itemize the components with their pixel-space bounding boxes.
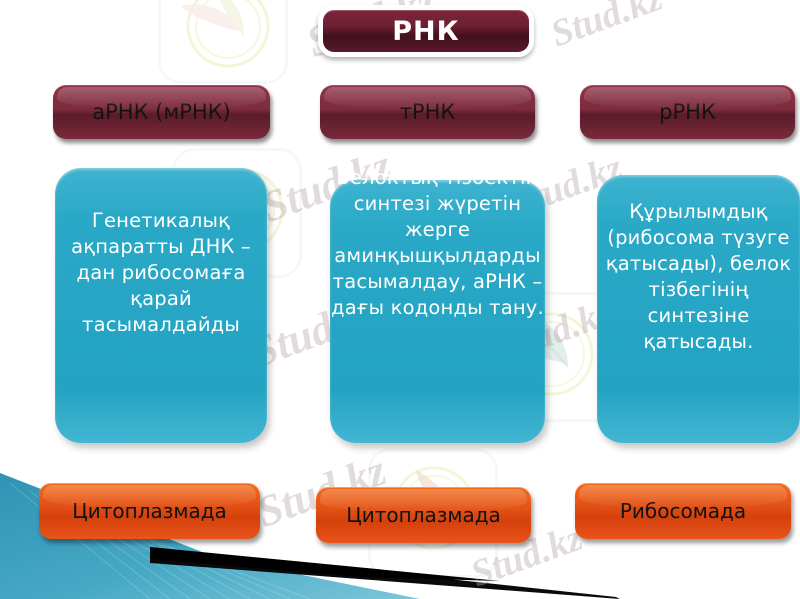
column-header-trnk[interactable]: тРНК <box>320 85 535 139</box>
column-body-trnk: Белоктық тізбектің синтезі жүретін жерге… <box>330 165 545 321</box>
column-header-rrnk[interactable]: рРНК <box>580 85 795 139</box>
column-panel-trnk: Белоктық тізбектің синтезі жүретін жерге… <box>330 180 545 443</box>
slide-title: РНК <box>318 5 534 57</box>
column-body-rrnk: Құрылымдық (рибосома түзуге қатысады), б… <box>597 199 800 355</box>
column-body-arnk: Генетикалық ақпаратты ДНК – дан рибосома… <box>55 208 267 338</box>
stud-kz-bird-logo-top <box>158 0 288 84</box>
watermark-text: Stud.kz <box>545 0 668 56</box>
column-footer-arnk[interactable]: Цитоплазмада <box>39 483 260 539</box>
column-footer-rrnk[interactable]: Рибосомада <box>575 483 791 539</box>
column-panel-rrnk: Құрылымдық (рибосома түзуге қатысады), б… <box>597 175 800 443</box>
bird-logo-glyph <box>158 0 288 84</box>
column-header-arnk[interactable]: аРНК (мРНК) <box>53 85 270 139</box>
slide-canvas: Stud.kz Stud.kz Stud.kz Stud.kz Stud.kz … <box>0 0 800 599</box>
column-footer-trnk[interactable]: Цитоплазмада <box>316 487 531 543</box>
column-panel-arnk: Генетикалық ақпаратты ДНК – дан рибосома… <box>55 168 267 443</box>
